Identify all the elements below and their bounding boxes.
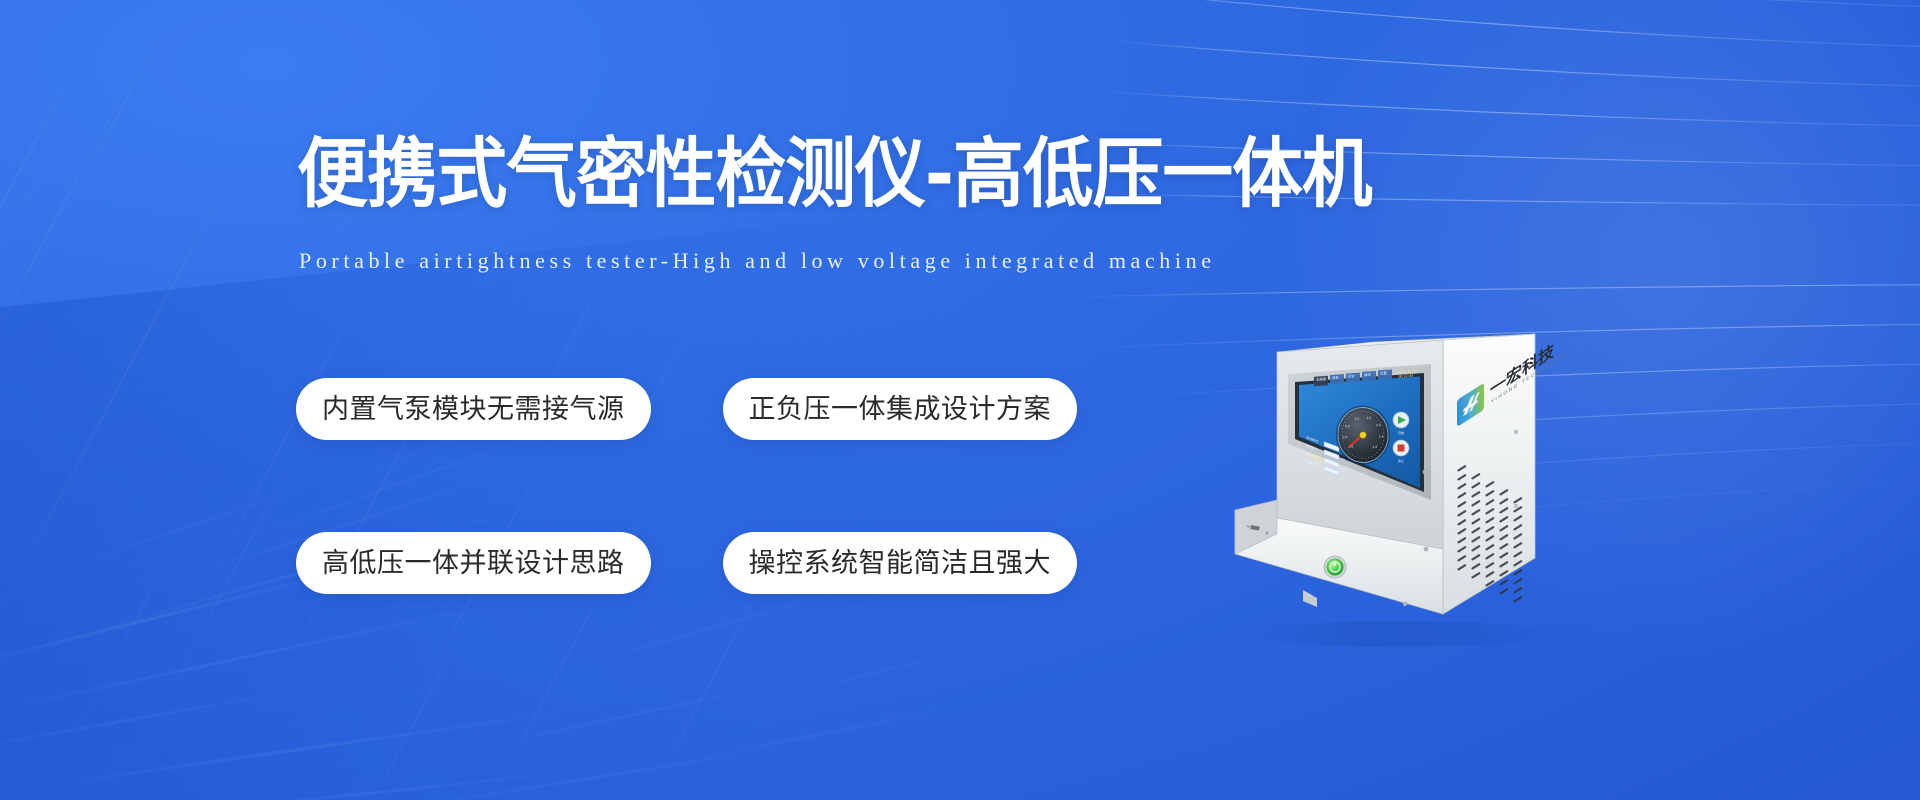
svg-text:历史: 历史 [1348,373,1355,378]
svg-text:开始: 开始 [1398,430,1404,435]
product-banner: 便携式气密性检测仪-高低压一体机 Portable airtightness t… [0,0,1920,800]
feature-pill-1[interactable]: 内置气泵模块无需接气源 [296,378,651,440]
screw [1423,470,1427,474]
feature-pill-2[interactable]: 正负压一体集成设计方案 [723,378,1078,440]
svg-text:停止: 停止 [1398,458,1404,463]
svg-text:设置: 设置 [1380,370,1387,375]
svg-text:0.4: 0.4 [1343,435,1348,439]
feature-pill-3[interactable]: 高低压一体并联设计思路 [296,532,651,594]
svg-text:2.8: 2.8 [1372,445,1377,449]
feature-pill-4[interactable]: 操控系统智能简洁且强大 [723,532,1078,594]
svg-text:1.2: 1.2 [1354,417,1359,421]
feature-label: 正负压一体集成设计方案 [749,396,1052,423]
feature-label: 高低压一体并联设计思路 [322,550,625,577]
feature-list: 内置气泵模块无需接气源 正负压一体集成设计方案 高低压一体并联设计思路 操控系统… [296,378,1116,594]
feature-row: 高低压一体并联设计思路 操控系统智能简洁且强大 [296,532,1116,594]
svg-text:曲线: 曲线 [1364,372,1371,377]
feature-row: 内置气泵模块无需接气源 正负压一体集成设计方案 [296,378,1116,440]
feature-label: 操控系统智能简洁且强大 [749,550,1052,577]
screw [1514,504,1518,508]
gauge-hub [1360,432,1367,439]
svg-text:1.6: 1.6 [1366,416,1371,420]
svg-text:0.8: 0.8 [1345,424,1350,428]
device-foot [1303,590,1317,607]
screw [1403,602,1407,606]
device-shadow [1245,621,1555,647]
screw [1424,547,1428,551]
stop-icon [1398,445,1405,452]
svg-text:参数: 参数 [1332,375,1339,380]
power-button[interactable] [1324,556,1346,578]
screw [1514,430,1518,434]
svg-text:2.4: 2.4 [1379,435,1384,439]
page-subtitle: Portable airtightness tester-High and lo… [299,250,1216,272]
feature-label: 内置气泵模块无需接气源 [322,396,625,423]
page-title: 便携式气密性检测仪-高低压一体机 [297,136,1372,212]
svg-text:2.0: 2.0 [1376,423,1381,427]
svg-text:主画面: 主画面 [1316,376,1327,382]
product-image: 主画面 参数 历史 曲线 设置 2023-01-01 10:12:03 气密性检… [1185,322,1615,652]
